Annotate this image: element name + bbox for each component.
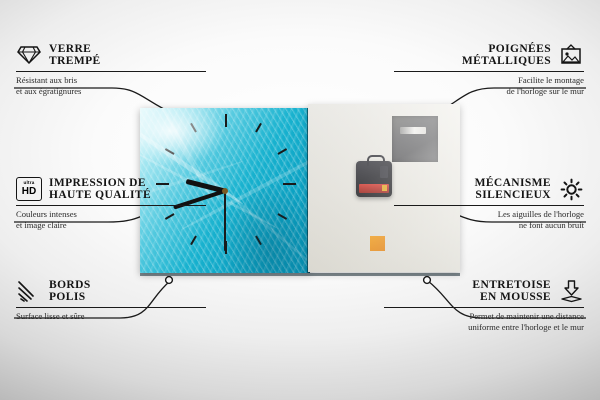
feature-title-line1: VERRE	[49, 43, 91, 55]
feature-title-line2: SILENCIEUX	[475, 189, 551, 201]
divider	[16, 205, 206, 206]
feature-desc-line2: et image claire	[16, 220, 67, 230]
feature-title-line2: EN MOUSSE	[480, 291, 551, 303]
feature-title-line2: MÉTALLIQUES	[462, 55, 551, 67]
diamond-icon	[16, 42, 42, 68]
feature-title-line1: MÉCANISME	[475, 177, 551, 189]
clock-center-cap	[222, 188, 228, 194]
feature-desc-line1: Résistant aux bris	[16, 75, 77, 85]
clock-second-hand	[224, 191, 226, 251]
feature-bords-polis: BORDSPOLIS Surface lisse et sûre	[16, 278, 206, 322]
divider	[16, 71, 206, 72]
metal-hanger-plate	[392, 116, 438, 162]
foam-spacer-icon	[558, 278, 584, 304]
feature-entretoise-en-mousse: ENTRETOISEEN MOUSSE Permet de maintenir …	[384, 278, 584, 332]
feature-desc-line2: et aux égratignures	[16, 86, 81, 96]
divider	[384, 307, 584, 308]
feature-impression-haute-qualite: ultraHD IMPRESSION DEHAUTE QUALITÉ Coule…	[16, 176, 206, 230]
feature-desc-line1: Surface lisse et sûre	[16, 311, 85, 321]
polished-edges-icon	[16, 278, 42, 304]
battery	[359, 184, 389, 193]
feature-title-line1: BORDS	[49, 279, 91, 291]
ultra-hd-icon: ultraHD	[16, 176, 42, 202]
feature-title-line2: HAUTE QUALITÉ	[49, 189, 151, 201]
hd-icon-bottom-text: HD	[22, 187, 36, 197]
feature-title-line2: POLIS	[49, 291, 86, 303]
infographic-canvas: VERRETREMPÉ Résistant aux briset aux égr…	[0, 0, 600, 400]
feature-desc-line2: de l'horloge sur le mur	[507, 86, 584, 96]
feature-verre-trempe: VERRETREMPÉ Résistant aux briset aux égr…	[16, 42, 206, 96]
feature-desc-line1: Les aiguilles de l'horloge	[498, 209, 584, 219]
picture-hanger-icon	[558, 42, 584, 68]
foam-spacer	[370, 236, 385, 251]
feature-title-line2: TREMPÉ	[49, 55, 101, 67]
feature-poignees-metalliques: POIGNÉESMÉTALLIQUES Facilite le montaged…	[394, 42, 584, 96]
feature-desc-line2: uniforme entre l'horloge et le mur	[468, 322, 584, 332]
feature-desc-line1: Facilite le montage	[518, 75, 584, 85]
divider	[394, 205, 584, 206]
feature-mecanisme-silencieux: MÉCANISMESILENCIEUX Les aiguilles de l'h…	[394, 176, 584, 230]
feature-desc-line1: Permet de maintenir une distance	[469, 311, 584, 321]
divider	[16, 307, 206, 308]
feature-title-line1: ENTRETOISE	[472, 279, 551, 291]
feature-desc-line1: Couleurs intenses	[16, 209, 77, 219]
divider	[394, 71, 584, 72]
gear-icon	[558, 176, 584, 202]
feature-title-line1: POIGNÉES	[488, 43, 551, 55]
clock-mechanism	[356, 161, 392, 197]
feature-title-line1: IMPRESSION DE	[49, 177, 146, 189]
feature-desc-line2: ne font aucun bruit	[519, 220, 584, 230]
